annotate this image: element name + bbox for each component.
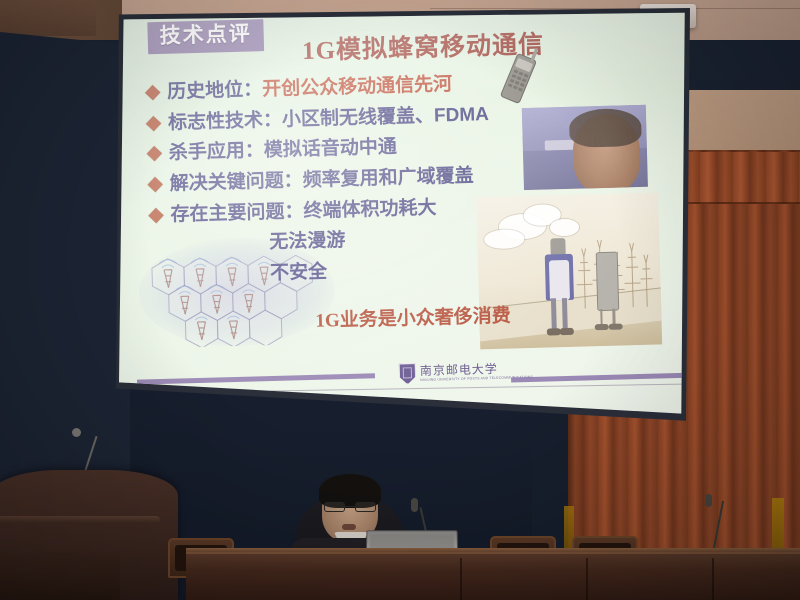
diamond-bullet-icon bbox=[147, 177, 163, 193]
left-dark-wall bbox=[0, 32, 130, 502]
footer-bar-left bbox=[137, 373, 375, 384]
university-logo: 南京邮电大学 NANJING UNIVERSITY OF POSTS AND T… bbox=[399, 360, 533, 385]
bullet-text: 小区制无线覆盖、FDMA bbox=[282, 104, 489, 131]
diamond-bullet-icon bbox=[145, 85, 161, 101]
lectern-trim bbox=[0, 516, 160, 523]
bullet-label: 存在主要问题： bbox=[170, 201, 304, 226]
lectern-base bbox=[0, 552, 120, 600]
presenter-mouth bbox=[342, 524, 356, 530]
bullet-label: 解决关键问题： bbox=[169, 170, 303, 195]
footer-bar-right bbox=[511, 373, 687, 383]
diamond-bullet-icon bbox=[146, 115, 162, 131]
bullet-label: 历史地位： bbox=[167, 79, 263, 103]
bullet-text: 模拟话音动中通 bbox=[264, 137, 398, 162]
desk-seam bbox=[460, 558, 462, 600]
slide-tagline: 1G业务是小众奢侈消费 bbox=[315, 301, 511, 333]
bullet-continuation: 不安全 bbox=[270, 253, 573, 288]
desk-microphone-head bbox=[411, 498, 418, 512]
glasses-icon bbox=[324, 502, 376, 512]
desk-seam bbox=[586, 558, 588, 600]
desk-seam bbox=[712, 558, 714, 600]
left-upper-dark-panel bbox=[0, 0, 96, 36]
slide-bullet-list: 历史地位：开创公众移动通信先河 标志性技术：小区制无线覆盖、FDMA 杀手应用：… bbox=[147, 69, 573, 295]
right-microphone-head bbox=[705, 494, 712, 507]
shield-icon bbox=[399, 363, 417, 384]
bullet-emphasis: 开创公众移动通信先河 bbox=[262, 74, 453, 100]
cartoon-phone-character bbox=[591, 251, 626, 334]
lecture-hall-scene: 技术点评 1G模拟蜂窝移动通信 bbox=[0, 0, 800, 600]
projection-screen: 技术点评 1G模拟蜂窝移动通信 bbox=[119, 11, 687, 433]
diamond-bullet-icon bbox=[147, 146, 163, 162]
presentation-slide: 技术点评 1G模拟蜂窝移动通信 bbox=[119, 11, 687, 433]
logo-name-en: NANJING UNIVERSITY OF POSTS AND TELECOMM… bbox=[420, 376, 533, 382]
panel-desk bbox=[186, 552, 800, 600]
bullet-text: 终端体积功耗大 bbox=[303, 197, 437, 222]
bullet-label: 标志性技术： bbox=[168, 109, 283, 133]
bullet-label: 杀手应用： bbox=[169, 140, 265, 164]
diamond-bullet-icon bbox=[148, 207, 164, 223]
bullet-continuation: 无法漫游 bbox=[269, 222, 572, 257]
slide-section-badge: 技术点评 bbox=[147, 19, 264, 54]
bullet-text: 频率复用和广域覆盖 bbox=[302, 165, 474, 191]
podium-microphone-head bbox=[72, 428, 81, 437]
